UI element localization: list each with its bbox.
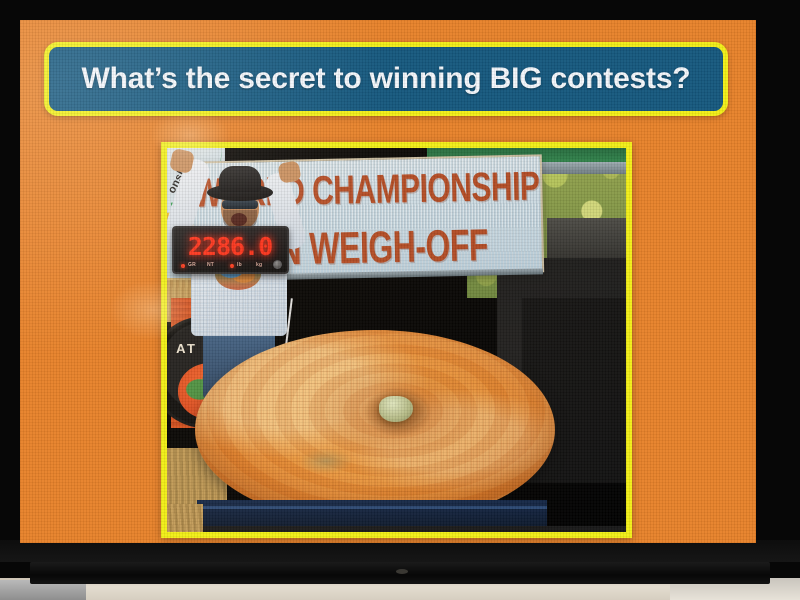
slide-photo-frame: onship h-Off WORLD CHAMPIONSHIP KIN WEIG… [161, 142, 632, 538]
presentation-slide: What’s the secret to winning BIG contest… [20, 20, 756, 543]
hay-bale-bottom [167, 504, 203, 532]
scale-led-indicator [181, 264, 185, 268]
scale-led-lb [230, 264, 234, 268]
scale-reading: 2286.0 [180, 232, 280, 261]
photographed-monitor-scene: What’s the secret to winning BIG contest… [0, 0, 800, 600]
scale-label-pounds: lb [237, 262, 242, 268]
stand-screw-icon [396, 569, 408, 574]
background-roof [547, 218, 626, 262]
monitor-bottom-bezel [0, 540, 800, 562]
man-open-mouth [231, 213, 247, 226]
sunglasses-icon [222, 200, 258, 209]
cowboy-hat-crown [219, 166, 261, 192]
scale-label-net: NT [207, 262, 214, 268]
ground-shadow [167, 526, 626, 532]
digital-weight-scale: 2286.0 GR NT lb kg [172, 226, 289, 274]
pallet-highlight-line [197, 506, 547, 509]
slide-photo: onship h-Off WORLD CHAMPIONSHIP KIN WEIG… [167, 148, 626, 532]
scale-label-kilograms: kg [256, 262, 262, 268]
slide-title-text: What’s the secret to winning BIG contest… [82, 62, 691, 96]
scale-label-gross: GR [188, 262, 196, 268]
pumpkin-blemish [299, 448, 353, 474]
slide-title-box: What’s the secret to winning BIG contest… [44, 42, 728, 116]
pumpkin-stem [379, 396, 413, 422]
scale-knob-icon [273, 260, 282, 269]
